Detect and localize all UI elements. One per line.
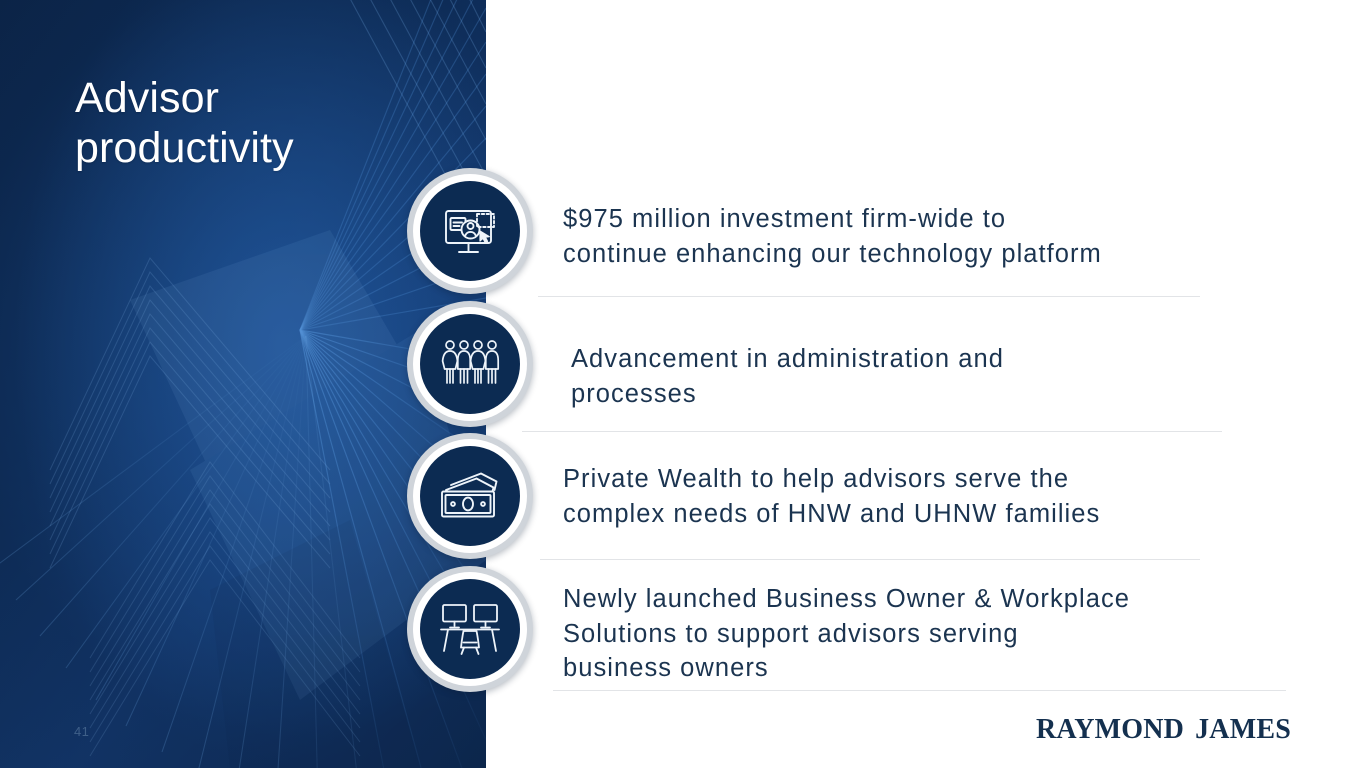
list-divider (522, 431, 1222, 432)
badge-white-ring (413, 572, 527, 686)
list-item-text: Advancement in administration and proces… (571, 342, 1271, 411)
monitor-user-icon (439, 202, 501, 260)
list-divider (553, 690, 1286, 691)
workstation-desk-icon-badge (407, 566, 533, 692)
people-group-icon (439, 335, 501, 393)
logo-word-raymond: RAYMOND (1036, 714, 1184, 745)
badge-disc (420, 181, 520, 281)
raymond-james-logo: RAYMONDJAMES (1036, 714, 1291, 746)
list-item-text: Newly launched Business Owner & Workplac… (563, 582, 1273, 686)
badge-disc (420, 314, 520, 414)
badge-disc (420, 579, 520, 679)
logo-word-james: JAMES (1195, 714, 1291, 745)
banknotes-icon (438, 471, 502, 521)
bullet-list: $975 million investment firm-wide to con… (0, 0, 1365, 768)
monitor-user-icon-badge (407, 168, 533, 294)
workstation-desk-icon (439, 601, 501, 657)
badge-disc (420, 446, 520, 546)
list-divider (540, 559, 1200, 560)
badge-white-ring (413, 174, 527, 288)
people-group-icon-badge (407, 301, 533, 427)
list-divider (538, 296, 1200, 297)
badge-white-ring (413, 307, 527, 421)
banknotes-icon-badge (407, 433, 533, 559)
list-item-text: Private Wealth to help advisors serve th… (563, 462, 1263, 531)
list-item-text: $975 million investment firm-wide to con… (563, 202, 1263, 271)
slide-root: Advisor productivity 41 (0, 0, 1365, 768)
badge-white-ring (413, 439, 527, 553)
